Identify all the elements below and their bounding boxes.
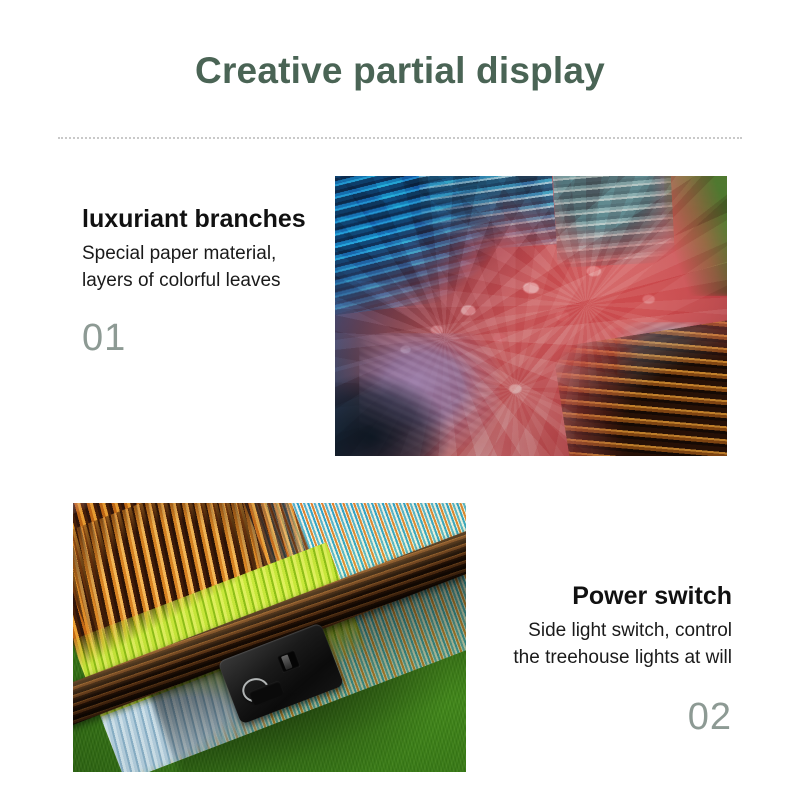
- feature-block-01: luxuriant branches Special paper materia…: [82, 203, 314, 360]
- feature-number-02: 02: [498, 695, 732, 739]
- feature-image-02: [73, 503, 466, 772]
- feature-block-02: Power switch Side light switch, control …: [498, 580, 732, 739]
- promo-page: Creative partial display luxuriant branc…: [0, 0, 800, 800]
- page-title: Creative partial display: [0, 48, 800, 94]
- image-vignette-2: [73, 503, 466, 772]
- feature-description-01: Special paper material, layers of colorf…: [82, 240, 314, 294]
- feature-heading-02: Power switch: [498, 580, 732, 612]
- dotted-divider: [58, 137, 742, 139]
- feature-number-01: 01: [82, 316, 314, 360]
- image-vignette: [335, 176, 727, 456]
- feature-heading-01: luxuriant branches: [82, 203, 314, 235]
- feature-description-02: Side light switch, control the treehouse…: [498, 617, 732, 671]
- feature-image-01: [335, 176, 727, 456]
